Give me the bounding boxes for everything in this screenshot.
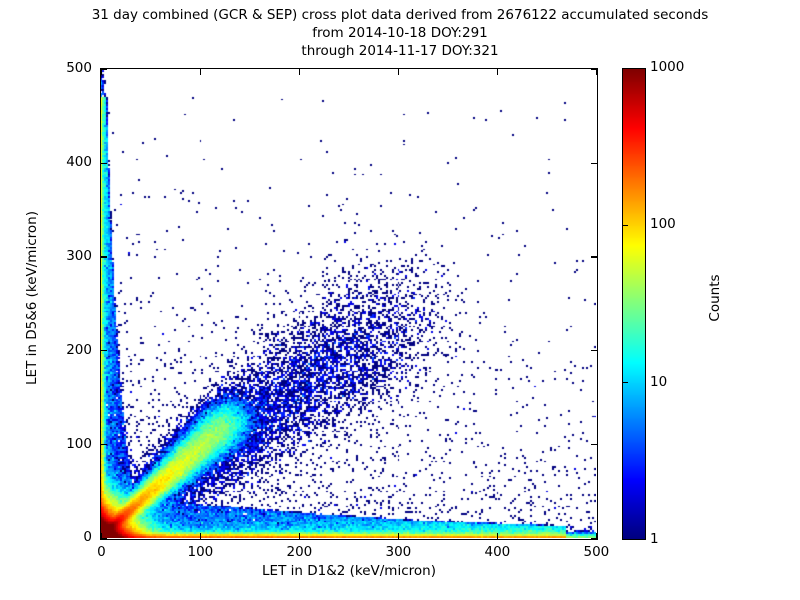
colorbar-tick-label: 100: [650, 216, 676, 232]
y-tick-right: [591, 444, 597, 445]
x-tick-top: [497, 69, 498, 75]
x-tick-label: 400: [467, 544, 527, 560]
y-tick-label: 100: [40, 436, 92, 452]
x-tick-top: [101, 69, 102, 75]
x-tick-top: [596, 69, 597, 75]
scatter-heatmap-canvas: [101, 69, 596, 538]
y-tick-label: 400: [40, 154, 92, 170]
y-tick-right: [591, 256, 597, 257]
x-tick-bottom: [200, 533, 201, 539]
colorbar-tick: [623, 225, 628, 226]
title-line-3: through 2014-11-17 DOY:321: [0, 42, 800, 60]
y-tick-left: [101, 256, 107, 257]
colorbar-tick-label: 1000: [650, 59, 684, 75]
x-tick-bottom: [398, 533, 399, 539]
title-line-2: from 2014-10-18 DOY:291: [0, 24, 800, 42]
y-tick-left: [101, 444, 107, 445]
y-tick-label: 200: [40, 342, 92, 358]
y-tick-left: [101, 163, 107, 164]
colorbar-tick-label: 10: [650, 374, 667, 390]
x-tick-top: [398, 69, 399, 75]
x-axis-label: LET in D1&2 (keV/micron): [0, 563, 698, 579]
y-axis-label: LET in D5&6 (keV/micron): [24, 178, 40, 418]
colorbar-tick-label: 1: [650, 531, 659, 547]
x-tick-label: 500: [566, 544, 626, 560]
title-line-1: 31 day combined (GCR & SEP) cross plot d…: [0, 6, 800, 24]
x-tick-label: 200: [269, 544, 329, 560]
x-tick-top: [299, 69, 300, 75]
plot-area: [100, 68, 598, 540]
colorbar: [622, 68, 646, 540]
figure-root: 31 day combined (GCR & SEP) cross plot d…: [0, 0, 800, 600]
y-tick-label: 500: [40, 60, 92, 76]
x-tick-top: [200, 69, 201, 75]
x-tick-label: 300: [368, 544, 428, 560]
figure-title: 31 day combined (GCR & SEP) cross plot d…: [0, 6, 800, 60]
y-tick-right: [591, 538, 597, 539]
y-tick-right: [591, 69, 597, 70]
y-tick-label: 300: [40, 248, 92, 264]
y-tick-right: [591, 350, 597, 351]
x-tick-bottom: [497, 533, 498, 539]
x-tick-bottom: [299, 533, 300, 539]
colorbar-label: Counts: [707, 208, 723, 388]
y-tick-label: 0: [40, 529, 92, 545]
colorbar-gradient: [623, 69, 645, 539]
x-tick-label: 0: [71, 544, 131, 560]
y-tick-left: [101, 69, 107, 70]
y-tick-left: [101, 538, 107, 539]
x-tick-label: 100: [170, 544, 230, 560]
colorbar-tick: [623, 382, 628, 383]
y-tick-right: [591, 163, 597, 164]
y-tick-left: [101, 350, 107, 351]
